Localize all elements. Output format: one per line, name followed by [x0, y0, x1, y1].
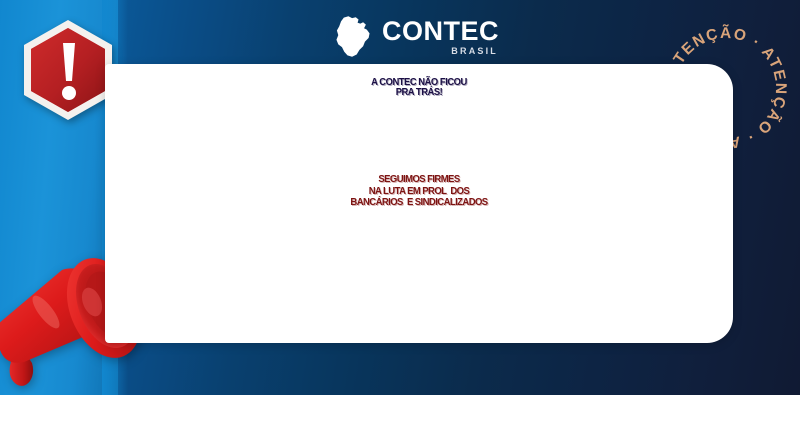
alert-exclamation-hexagon-icon	[18, 18, 118, 122]
sub-line-2: NA LUTA EM PROL DOS	[121, 186, 718, 198]
logo-name: CONTEC	[382, 18, 499, 45]
brazil-map-icon	[330, 14, 376, 60]
poster-canvas: CONTEC BRASIL · ATENÇÃO · ATENÇÃO · ATEN…	[0, 0, 800, 445]
contec-logo: CONTEC BRASIL	[330, 12, 480, 62]
sub-line-3: BANCÁRIOS E SINDICALIZADOS	[121, 197, 718, 209]
logo-subtitle: BRASIL	[451, 47, 498, 56]
subheadline-block: SEGUIMOS FIRMES NA LUTA EM PROL DOS BANC…	[105, 174, 733, 209]
sub-line-1: SEGUIMOS FIRMES	[121, 174, 718, 186]
banner: CONTEC BRASIL · ATENÇÃO · ATENÇÃO · ATEN…	[0, 0, 800, 395]
headline-block: A CONTEC NÃO FICOU PRA TRÁS!	[105, 78, 733, 98]
headline-line-2: PRA TRÁS!	[124, 88, 714, 98]
message-card: A CONTEC NÃO FICOU PRA TRÁS! SEGUIMOS FI…	[105, 64, 733, 343]
logo-wordmark: CONTEC BRASIL	[382, 18, 499, 56]
page-background-strip	[0, 395, 800, 445]
